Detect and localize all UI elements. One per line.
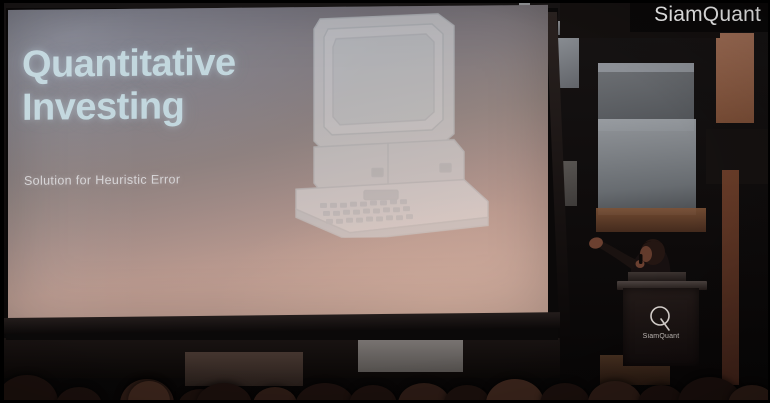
slide-title: Quantitative Investing	[22, 42, 236, 129]
audience-head	[0, 375, 58, 403]
audience-head	[295, 383, 355, 403]
audience-head	[398, 383, 450, 403]
slide-subtitle: Solution for Heuristic Error	[24, 172, 180, 188]
presentation-photo: Quantitative Investing Solution for Heur…	[0, 0, 770, 403]
watermark-text: SiamQuant	[654, 3, 761, 27]
wall-panel-gray-large	[598, 119, 696, 215]
audience-head	[196, 383, 252, 403]
wall-panel-wood-right	[716, 33, 754, 123]
wall-panel-wood-bottom	[596, 208, 706, 232]
audience-head	[56, 387, 102, 403]
audience-head	[444, 385, 490, 403]
retro-computer-icon	[288, 11, 498, 238]
audience-heads-icon	[0, 329, 770, 403]
wall-panel-gray-upper-strip	[598, 63, 694, 72]
audience-head	[253, 387, 297, 403]
audience-head	[540, 383, 590, 403]
audience-head	[486, 379, 544, 403]
audience-head	[588, 381, 642, 403]
audience-head	[349, 385, 397, 403]
projection-screen: Quantitative Investing Solution for Heur…	[8, 5, 548, 322]
